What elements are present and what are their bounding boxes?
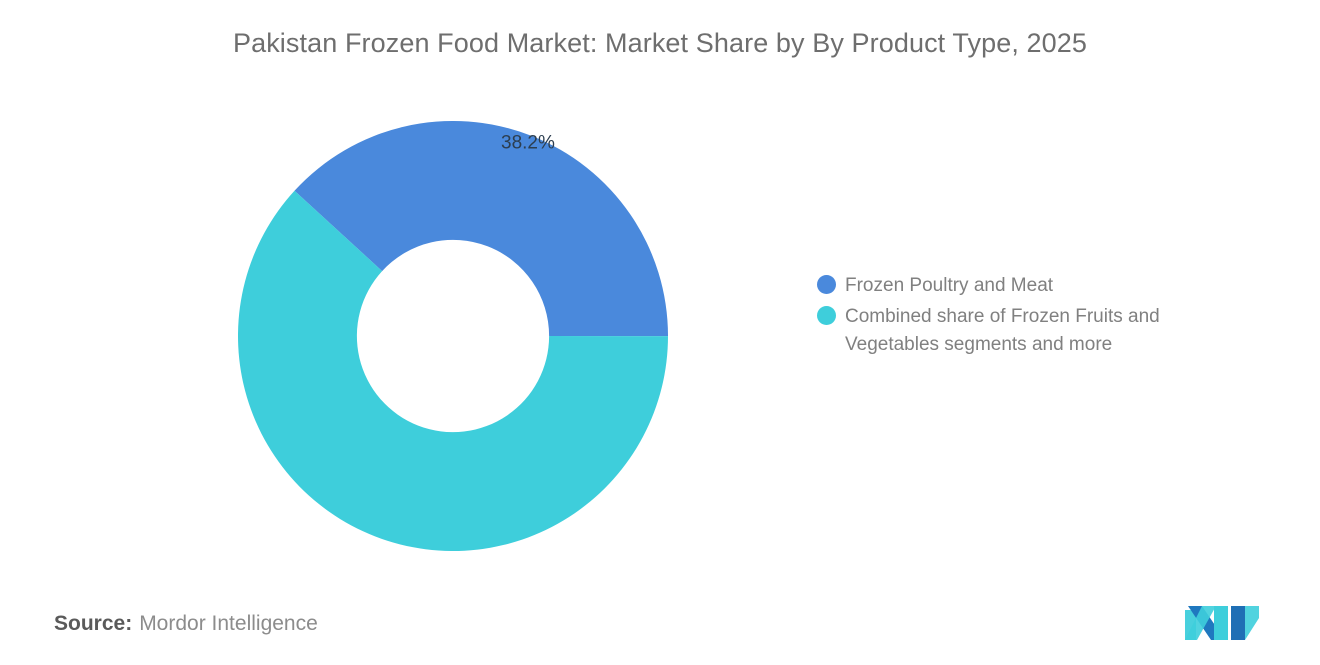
donut-chart-svg: 38.2% (238, 121, 668, 551)
source-line: Source:Mordor Intelligence (54, 612, 318, 636)
legend-item-combined-share-frozen-fruits-vegetables[interactable]: Combined share of Frozen Fruits and Vege… (817, 303, 1237, 359)
donut-slice-group (238, 121, 668, 551)
donut-chart: 38.2% (238, 121, 668, 551)
mordor-intelligence-logo-icon (1185, 598, 1259, 640)
source-label: Source: (54, 612, 132, 635)
donut-slice-label: 38.2% (501, 132, 555, 153)
chart-legend: Frozen Poultry and Meat Combined share o… (817, 272, 1237, 362)
page-title: Pakistan Frozen Food Market: Market Shar… (0, 28, 1320, 59)
legend-item-label: Frozen Poultry and Meat (845, 272, 1053, 300)
legend-item-frozen-poultry-and-meat[interactable]: Frozen Poultry and Meat (817, 272, 1237, 300)
legend-item-label: Combined share of Frozen Fruits and Vege… (845, 303, 1225, 359)
source-value: Mordor Intelligence (139, 612, 318, 635)
legend-swatch-icon (817, 306, 836, 325)
donut-label-group: 38.2% (501, 132, 555, 153)
logo-svg (1185, 598, 1259, 640)
legend-swatch-icon (817, 275, 836, 294)
